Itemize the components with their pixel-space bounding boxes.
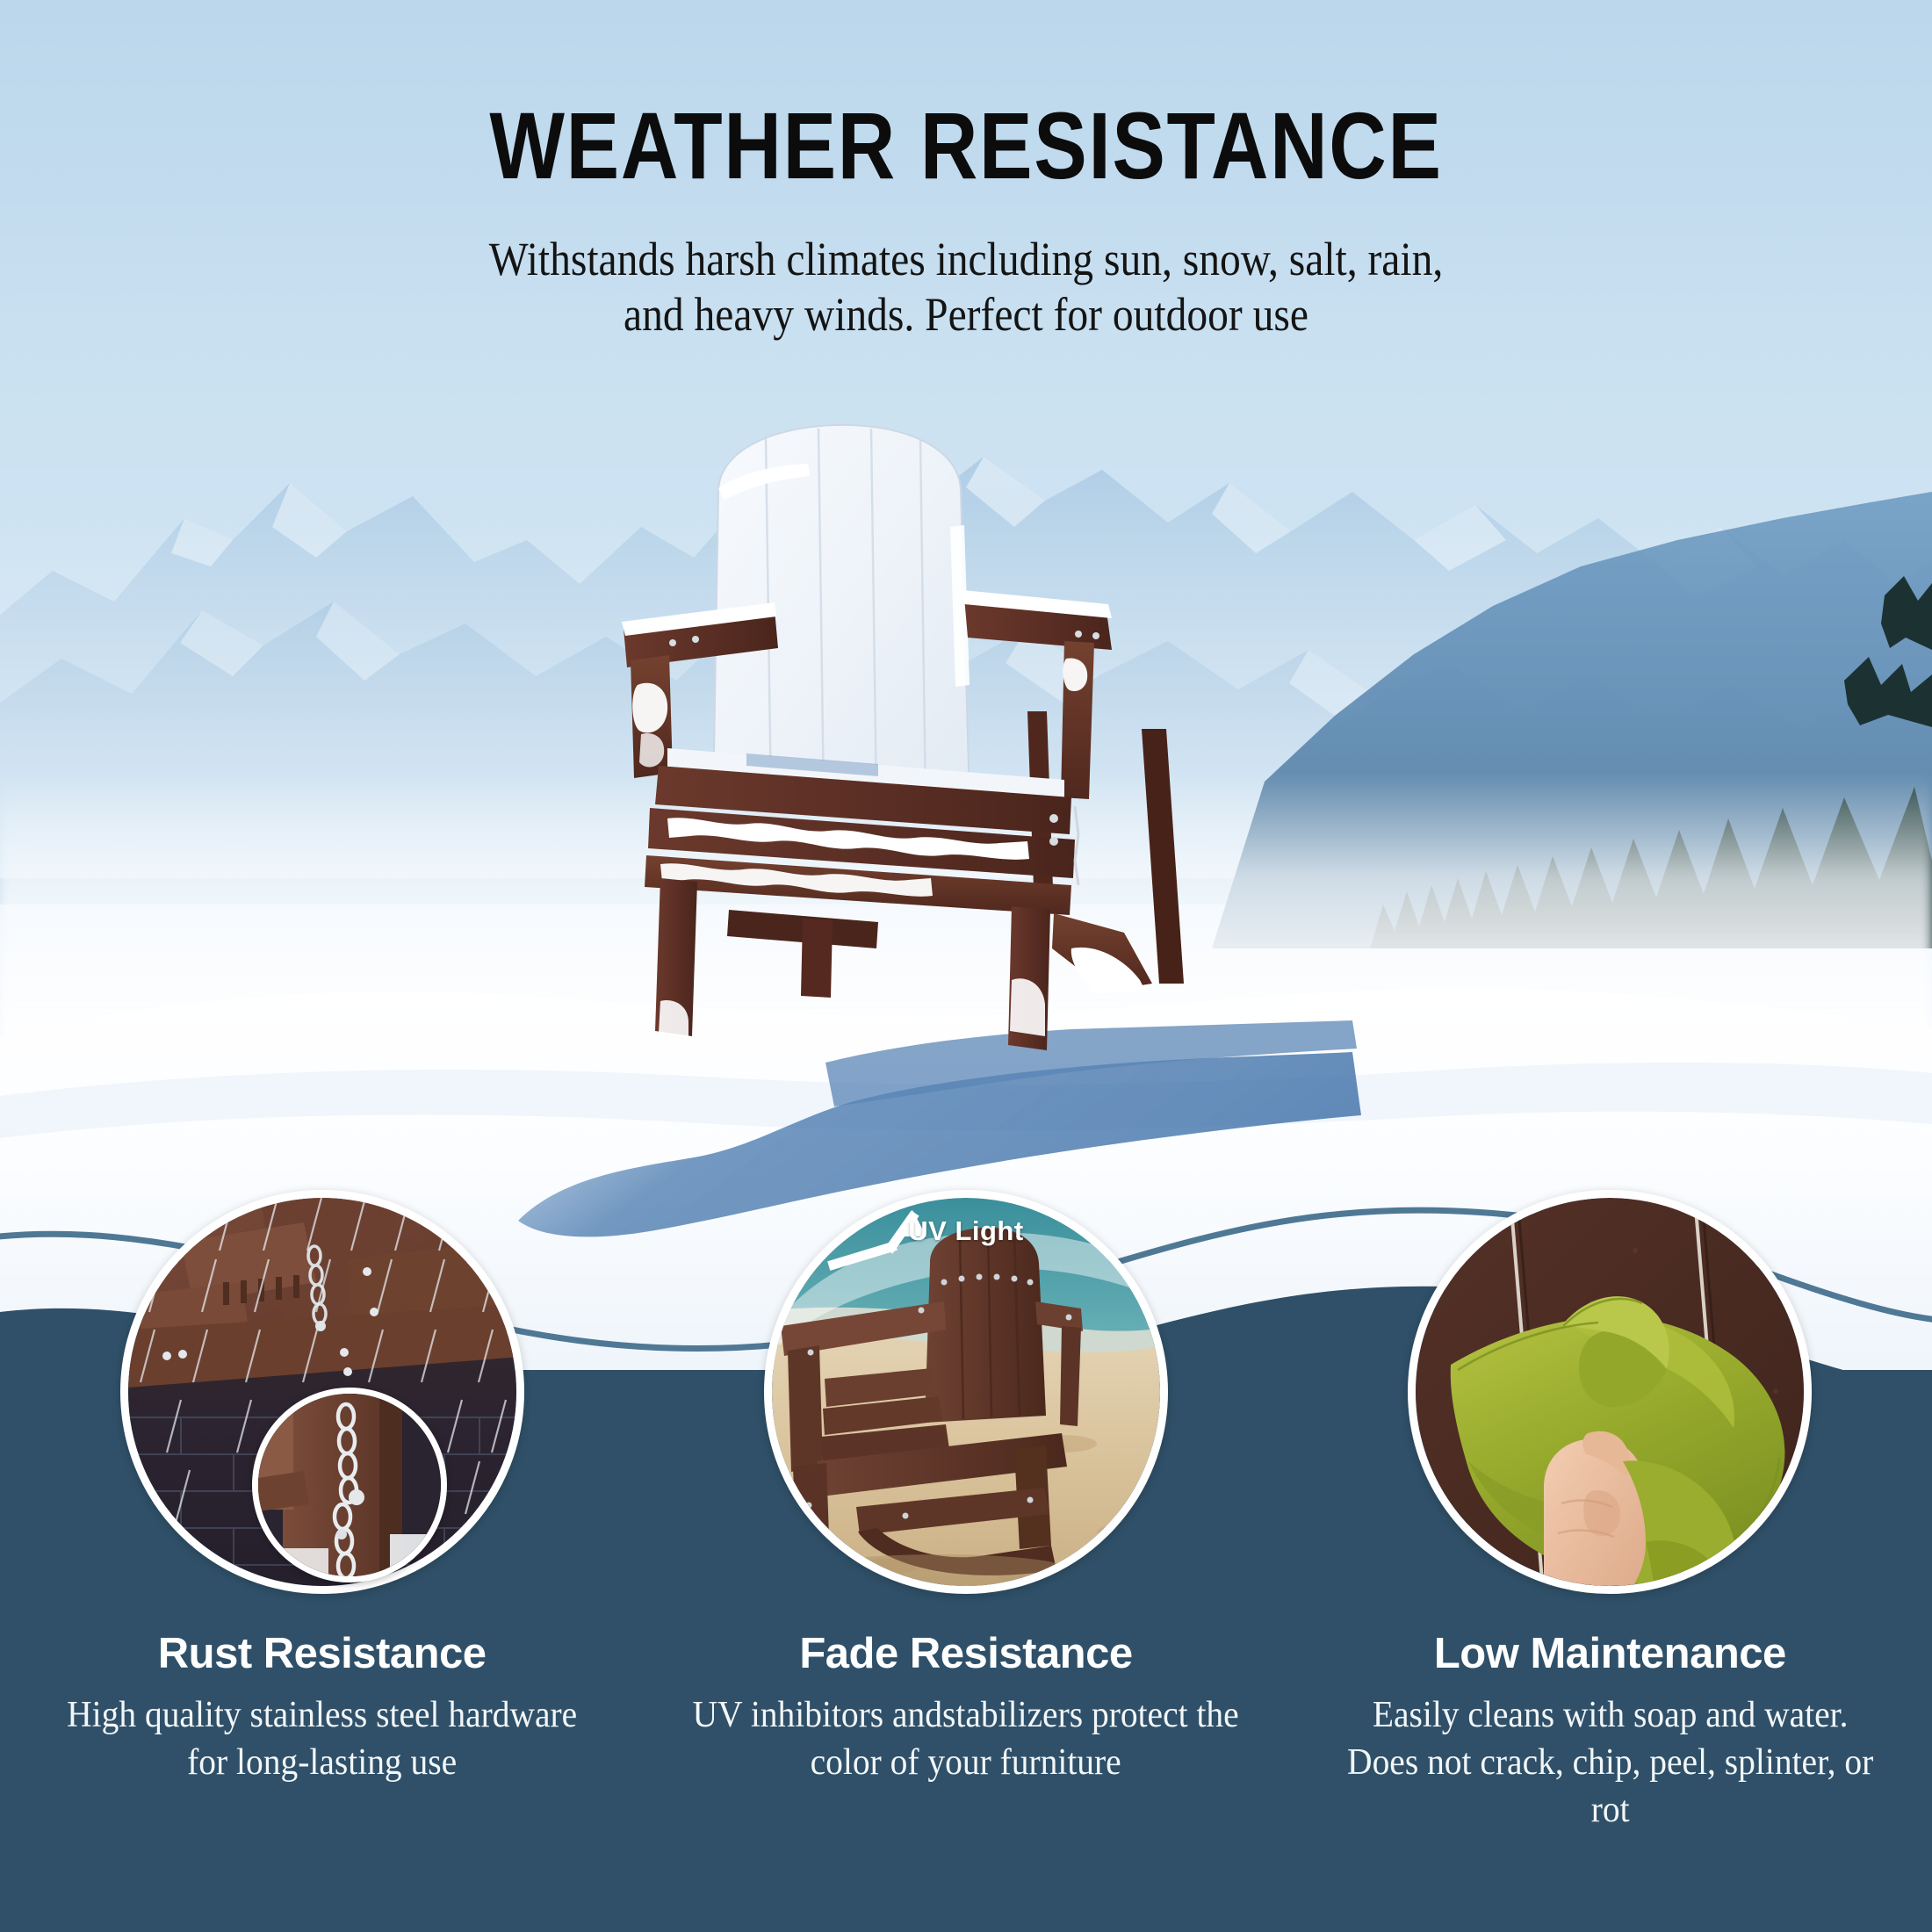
subtitle-line-1: Withstands harsh climates including sun,… [116, 232, 1816, 287]
feature-title-rust: Rust Resistance [0, 1629, 644, 1678]
subtitle-line-2: and heavy winds. Perfect for outdoor use [116, 287, 1816, 342]
cloth-wiping-illustration [1416, 1198, 1804, 1586]
feature-title-fade: Fade Resistance [644, 1629, 1287, 1678]
rust-resistance-media [120, 1190, 524, 1594]
infographic-root: WEATHER RESISTANCE Withstands harsh clim… [0, 0, 1932, 1932]
snow-covered-adirondack-chair [615, 422, 1335, 1142]
feature-column-rust-resistance: Rust Resistance High quality stainless s… [0, 1190, 644, 1857]
low-maintenance-media [1408, 1190, 1812, 1594]
page-title: WEATHER RESISTANCE [155, 98, 1777, 193]
features-row: Rust Resistance High quality stainless s… [0, 1190, 1932, 1857]
fade-resistance-circle[interactable]: UV Light [764, 1190, 1168, 1594]
feature-desc-fade: UV inhibitors andstabilizers protect the… [663, 1692, 1268, 1787]
fade-resistance-media: UV Light [764, 1190, 1168, 1594]
feature-column-low-maintenance: Low Maintenance Easily cleans with soap … [1288, 1190, 1932, 1857]
low-maintenance-circle[interactable] [1408, 1190, 1812, 1594]
page-subtitle: Withstands harsh climates including sun,… [116, 232, 1816, 342]
header-block: WEATHER RESISTANCE Withstands harsh clim… [0, 0, 1932, 342]
uv-light-label: UV Light [908, 1215, 1023, 1247]
feature-title-low-maintenance: Low Maintenance [1288, 1629, 1932, 1678]
feature-desc-low-maintenance: Easily cleans with soap and water. Does … [1308, 1692, 1913, 1834]
beach-chair-illustration [772, 1198, 1160, 1586]
rust-resistance-inset-circle[interactable] [252, 1388, 447, 1582]
feature-column-fade-resistance: UV Light Fade Resistance UV inhibitors a… [644, 1190, 1287, 1857]
feature-desc-rust: High quality stainless steel hardware fo… [19, 1692, 624, 1787]
